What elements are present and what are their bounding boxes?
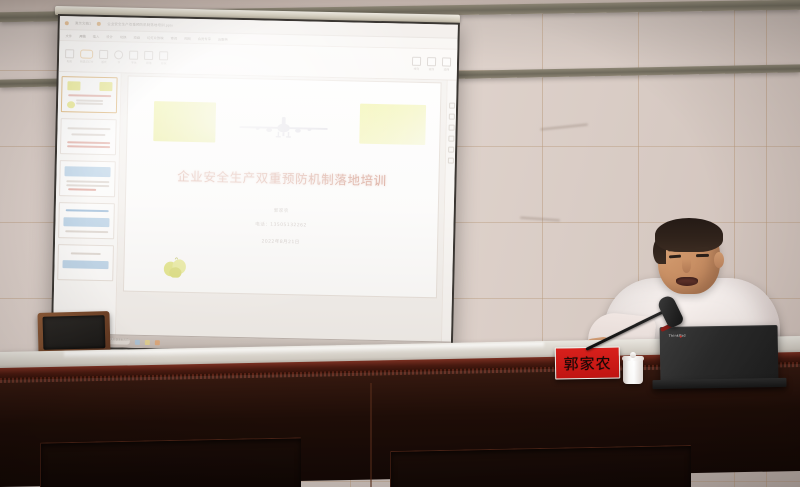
ribbon-group-label: 字体 <box>131 61 136 65</box>
ribbon-group-label: 形状 <box>161 61 166 65</box>
slide-date: 2022年8月21日 <box>125 236 437 249</box>
font-icon <box>129 51 138 60</box>
paste-icon <box>65 49 74 58</box>
ribbon-group-font[interactable]: 字体 <box>129 51 138 65</box>
ribbon-group-label: 粘贴 <box>67 59 72 63</box>
ribbon-tab-member[interactable]: 会员专享 <box>198 36 211 41</box>
ribbon-group-new-slide[interactable]: 新建幻灯片 <box>80 49 94 63</box>
podium-panel <box>390 445 691 487</box>
app-logo-icon <box>65 21 69 25</box>
slide-thumbnail[interactable]: 4 <box>58 202 115 239</box>
file-icon <box>97 21 101 25</box>
yellow-cube-graphic <box>162 255 188 278</box>
ribbon-group-arrange[interactable]: 排列 <box>412 57 421 71</box>
edge-icon[interactable] <box>135 339 140 344</box>
browser-icon[interactable] <box>155 340 160 345</box>
ribbon-group-find[interactable]: 查找 <box>427 57 436 71</box>
layout-icon <box>99 50 108 59</box>
slide-thumbnail-pane[interactable]: 1 2 <box>53 72 122 338</box>
ribbon-group-label: 新建幻灯片 <box>80 59 94 63</box>
slide-thumbnail[interactable]: 5 <box>57 244 114 281</box>
slide-presenter: 郭家农 <box>125 205 437 218</box>
podium-monitor <box>37 311 110 355</box>
eye-right <box>696 254 709 257</box>
ribbon-tab-cloud[interactable]: 云服务 <box>218 36 228 41</box>
ribbon-group-label: 节 <box>118 60 121 64</box>
slide-phone: 电话：13505132262 <box>125 219 437 232</box>
chart-icon[interactable] <box>448 136 454 142</box>
ribbon-tab-slideshow[interactable]: 幻灯片放映 <box>147 34 164 39</box>
ribbon-group-section[interactable]: 节 <box>114 50 123 64</box>
ribbon-group-select[interactable]: 选择 <box>442 57 451 71</box>
slide-title: 企业安全生产双重预防机制落地培训 <box>126 165 438 191</box>
slide-accent-rect-left <box>153 101 216 142</box>
ribbon-tab-home[interactable]: 开始 <box>79 33 86 38</box>
ribbon-group-shapes[interactable]: 形状 <box>159 51 168 65</box>
hair <box>655 218 723 252</box>
slide-thumbnail[interactable]: 2 <box>60 118 117 155</box>
podium-seam <box>370 383 372 487</box>
ribbon-group-label: 段落 <box>146 61 151 65</box>
new-slide-icon <box>80 49 93 58</box>
gooseneck-microphone <box>586 300 696 370</box>
slide-thumbnail[interactable]: 3 <box>59 160 116 197</box>
ribbon-group-layout[interactable]: 版式 <box>99 50 108 64</box>
paragraph-icon <box>144 51 153 60</box>
ribbon-group-label: 排列 <box>414 67 419 71</box>
search-icon <box>427 57 436 66</box>
app-body: 1 2 <box>53 72 457 346</box>
projection-screen: 演示文稿1 企业安全生产双重预防机制落地培训.pptx 文件 开始 插入 设计 … <box>51 14 460 357</box>
ribbon-tab-file[interactable]: 文件 <box>65 33 72 38</box>
ribbon-tab-transitions[interactable]: 切换 <box>120 34 127 39</box>
ribbon-group-label: 查找 <box>429 67 434 71</box>
shapes-icon <box>159 51 168 60</box>
ear <box>714 252 724 268</box>
comment-icon[interactable] <box>448 147 454 153</box>
nose <box>682 259 691 273</box>
ribbon-group-label: 选择 <box>444 67 449 71</box>
arrange-icon <box>412 57 421 66</box>
ribbon-group-paragraph[interactable]: 段落 <box>144 51 153 65</box>
template-icon[interactable] <box>448 114 454 120</box>
slide-canvas-area[interactable]: 企业安全生产双重预防机制落地培训 郭家农 电话：13505132262 2022… <box>116 73 447 345</box>
current-slide[interactable]: 企业安全生产双重预防机制落地培训 郭家农 电话：13505132262 2022… <box>123 77 440 298</box>
share-icon[interactable] <box>447 158 453 164</box>
ribbon-group-label: 版式 <box>101 60 106 64</box>
design-ideas-icon[interactable] <box>449 103 455 109</box>
podium-panel <box>40 437 301 487</box>
slide-accent-rect-right <box>359 104 426 145</box>
image-icon[interactable] <box>448 125 454 131</box>
ribbon-tab-design[interactable]: 设计 <box>106 34 113 39</box>
ribbon-tab-view[interactable]: 视图 <box>184 35 191 40</box>
airplane-graphic <box>235 115 332 143</box>
mouth <box>676 277 698 286</box>
mic-head <box>656 294 685 329</box>
titlebar-tab[interactable]: 演示文稿1 <box>75 20 92 25</box>
folder-icon[interactable] <box>145 339 150 344</box>
slide-thumbnail[interactable]: 1 <box>61 76 118 113</box>
select-icon <box>442 57 451 66</box>
ribbon-group-paste[interactable]: 粘贴 <box>65 49 74 63</box>
titlebar-tab-active[interactable]: 企业安全生产双重预防机制落地培训.pptx <box>107 21 173 27</box>
ribbon-tab-review[interactable]: 审阅 <box>171 35 178 40</box>
ribbon-tab-animations[interactable]: 动画 <box>133 34 140 39</box>
seminar-room-photo: 演示文稿1 企业安全生产双重预防机制落地培训.pptx 文件 开始 插入 设计 … <box>0 0 800 487</box>
monitor-screen <box>43 315 106 350</box>
ribbon-tab-insert[interactable]: 插入 <box>93 33 100 38</box>
section-icon <box>114 50 123 59</box>
